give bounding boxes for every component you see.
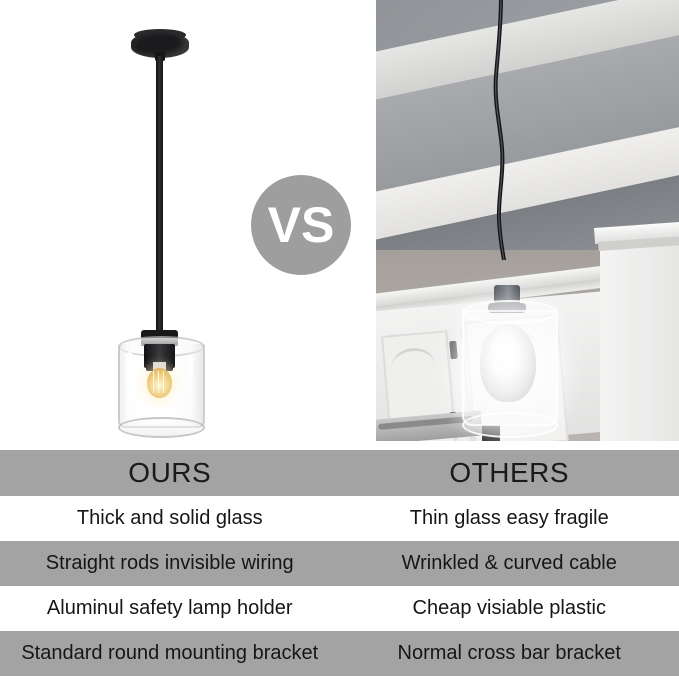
- table-row: Thick and solid glass Thin glass easy fr…: [0, 496, 679, 541]
- glass-highlight-left: [126, 352, 133, 418]
- others-feature-2: Wrinkled & curved cable: [340, 552, 679, 575]
- header-ours: OURS: [0, 457, 340, 489]
- table-header-row: OURS OTHERS: [0, 450, 679, 496]
- vs-badge: VS: [251, 175, 351, 275]
- table-row: Aluminul safety lamp holder Cheap visiab…: [0, 586, 679, 631]
- others-kitchen-photo: [376, 0, 679, 441]
- filament-icon: [152, 371, 167, 393]
- photo-glass-top-rim: [462, 300, 558, 324]
- glass-highlight-right: [188, 356, 193, 414]
- others-feature-3: Cheap visiable plastic: [340, 597, 679, 620]
- glass-bottom-rim: [118, 417, 205, 438]
- others-feature-1: Thin glass easy fragile: [340, 507, 679, 530]
- ours-feature-2: Straight rods invisible wiring: [0, 552, 340, 575]
- others-feature-4: Normal cross bar bracket: [340, 642, 679, 665]
- top-image-area: VS: [0, 0, 679, 450]
- ours-feature-3: Aluminul safety lamp holder: [0, 597, 340, 620]
- table-row: Straight rods invisible wiring Wrinkled …: [0, 541, 679, 586]
- table-row: Standard round mounting bracket Normal c…: [0, 631, 679, 676]
- ours-feature-4: Standard round mounting bracket: [0, 642, 340, 665]
- vs-badge-label: VS: [268, 200, 335, 250]
- straight-rod: [156, 56, 163, 334]
- ours-feature-1: Thick and solid glass: [0, 507, 340, 530]
- wrinkled-cable: [446, 0, 566, 260]
- photo-glass-bottom-rim: [462, 412, 558, 438]
- tall-cabinet-column: [600, 230, 679, 441]
- header-others: OTHERS: [340, 457, 679, 489]
- comparison-table: OURS OTHERS Thick and solid glass Thin g…: [0, 450, 679, 676]
- comparison-infographic: VS: [0, 0, 679, 679]
- photo-bulb: [480, 324, 536, 402]
